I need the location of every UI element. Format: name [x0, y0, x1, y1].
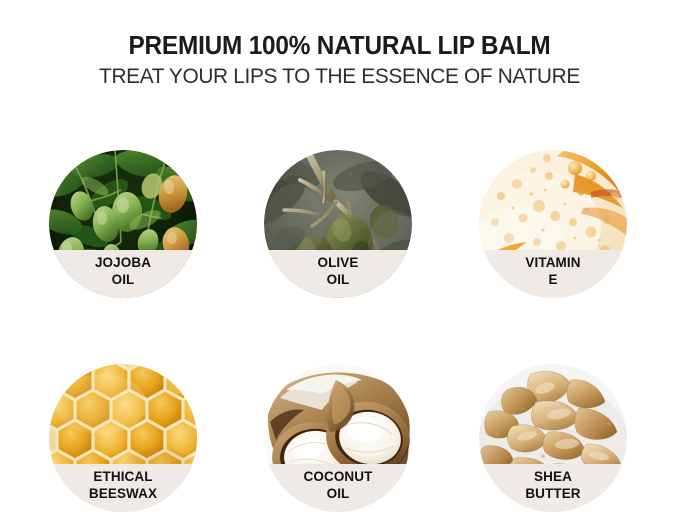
ingredient-label-line1: VITAMIN: [525, 254, 580, 271]
page-subtitle: TREAT YOUR LIPS TO THE ESSENCE OF NATURE: [10, 64, 669, 89]
ingredient-badge-shea-butter[interactable]: SHEA BUTTER: [479, 364, 627, 512]
ingredient-row-bottom: ETHICAL BEESWAX: [0, 332, 679, 514]
ingredient-label-line1: COCONUT: [304, 468, 373, 485]
ingredient-label-line1: ETHICAL: [93, 468, 152, 485]
ingredient-label-line2: E: [548, 271, 557, 288]
ingredient-label-coconut-oil: COCONUT OIL: [264, 464, 412, 512]
ingredient-label-line2: BEESWAX: [89, 485, 157, 502]
ingredient-label-shea-butter: SHEA BUTTER: [479, 464, 627, 512]
ingredient-label-line2: BUTTER: [525, 485, 580, 502]
ingredient-label-line2: OIL: [327, 271, 350, 288]
ingredient-badge-ethical-beeswax[interactable]: ETHICAL BEESWAX: [49, 364, 197, 512]
ingredient-label-vitamin-e: VITAMIN E: [479, 250, 627, 298]
ingredient-label-jojoba-oil: JOJOBA OIL: [49, 250, 197, 298]
ingredient-label-line1: SHEA: [534, 468, 572, 485]
ingredient-label-line1: JOJOBA: [95, 254, 151, 271]
page-title: PREMIUM 100% NATURAL LIP BALM: [15, 31, 663, 61]
ingredient-label-ethical-beeswax: ETHICAL BEESWAX: [49, 464, 197, 512]
ingredient-label-line1: OLIVE: [317, 254, 358, 271]
header: PREMIUM 100% NATURAL LIP BALM TREAT YOUR…: [0, 31, 679, 89]
ingredient-badge-olive-oil[interactable]: OLIVE OIL: [264, 150, 412, 298]
ingredient-label-olive-oil: OLIVE OIL: [264, 250, 412, 298]
ingredient-badge-vitamin-e[interactable]: VITAMIN E: [479, 150, 627, 298]
ingredient-badge-jojoba-oil[interactable]: JOJOBA OIL: [49, 150, 197, 298]
ingredient-grid: JOJOBA OIL: [0, 150, 679, 514]
ingredient-label-line2: OIL: [327, 485, 350, 502]
ingredient-row-top: JOJOBA OIL: [0, 150, 679, 332]
ingredient-badge-coconut-oil[interactable]: COCONUT OIL: [264, 364, 412, 512]
ingredient-infographic: PREMIUM 100% NATURAL LIP BALM TREAT YOUR…: [0, 0, 679, 509]
ingredient-label-line2: OIL: [112, 271, 135, 288]
